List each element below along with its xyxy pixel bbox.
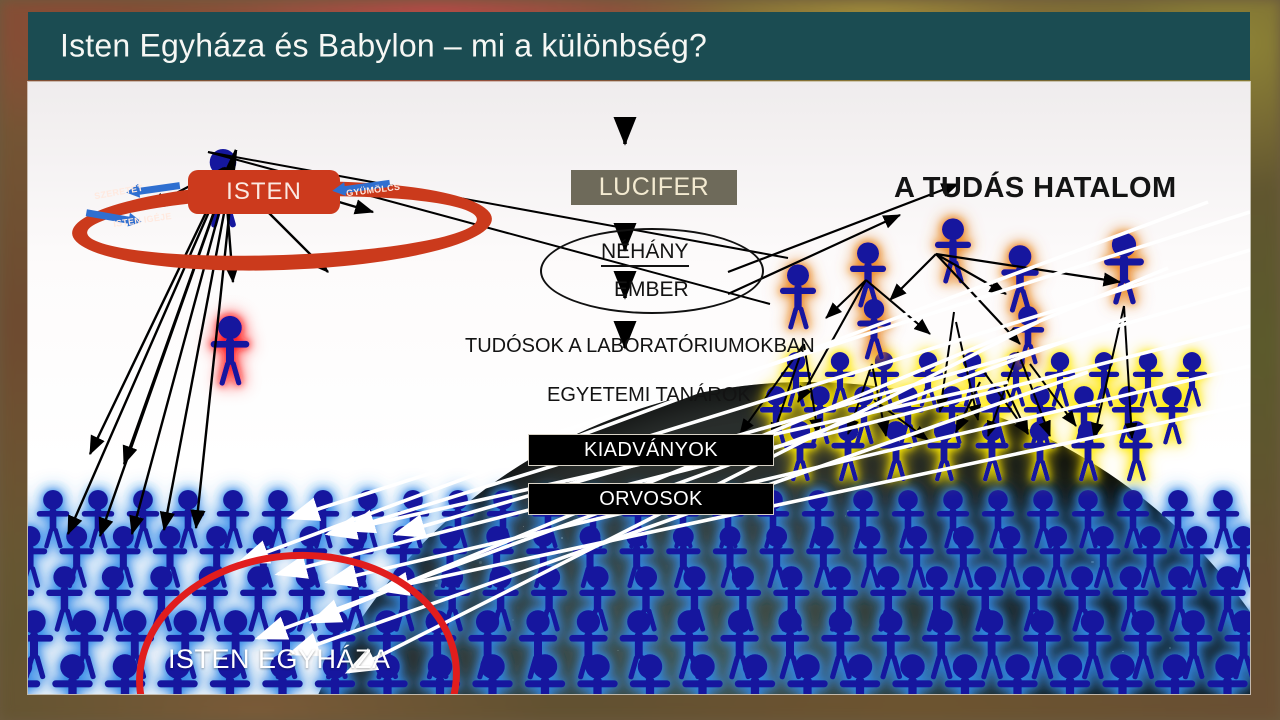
publications-box: KIADVÁNYOK xyxy=(528,434,774,466)
god-label: ISTEN xyxy=(188,170,340,214)
slide-title: Isten Egyháza és Babylon – mi a különbsé… xyxy=(60,28,707,65)
god-label-box: ISTEN xyxy=(188,170,340,214)
professors-label: EGYETEMI TANÁROK xyxy=(547,384,751,407)
slide-stage: ISTEN SZERETET GYÜMÖLCS ISTEN IGÉJE LUCI… xyxy=(0,0,1280,720)
church-of-god-label: ISTEN EGYHÁZA xyxy=(168,644,391,675)
doctors-label: ORVOSOK xyxy=(529,484,773,514)
slide-canvas: ISTEN SZERETET GYÜMÖLCS ISTEN IGÉJE LUCI… xyxy=(28,82,1250,694)
publications-label: KIADVÁNYOK xyxy=(529,435,773,465)
few-people-line2: EMBER xyxy=(614,278,689,302)
few-people-line1: NÉHÁNY xyxy=(601,240,689,267)
slide-title-bar: Isten Egyháza és Babylon – mi a különbsé… xyxy=(28,12,1250,80)
lucifer-box: LUCIFER xyxy=(571,170,737,205)
lucifer-label: LUCIFER xyxy=(571,170,737,205)
scientists-label: TUDÓSOK A LABORATÓRIUMOKBAN xyxy=(465,335,815,358)
doctors-box: ORVOSOK xyxy=(528,483,774,515)
knowledge-is-power-heading: A TUDÁS HATALOM xyxy=(894,172,1177,205)
